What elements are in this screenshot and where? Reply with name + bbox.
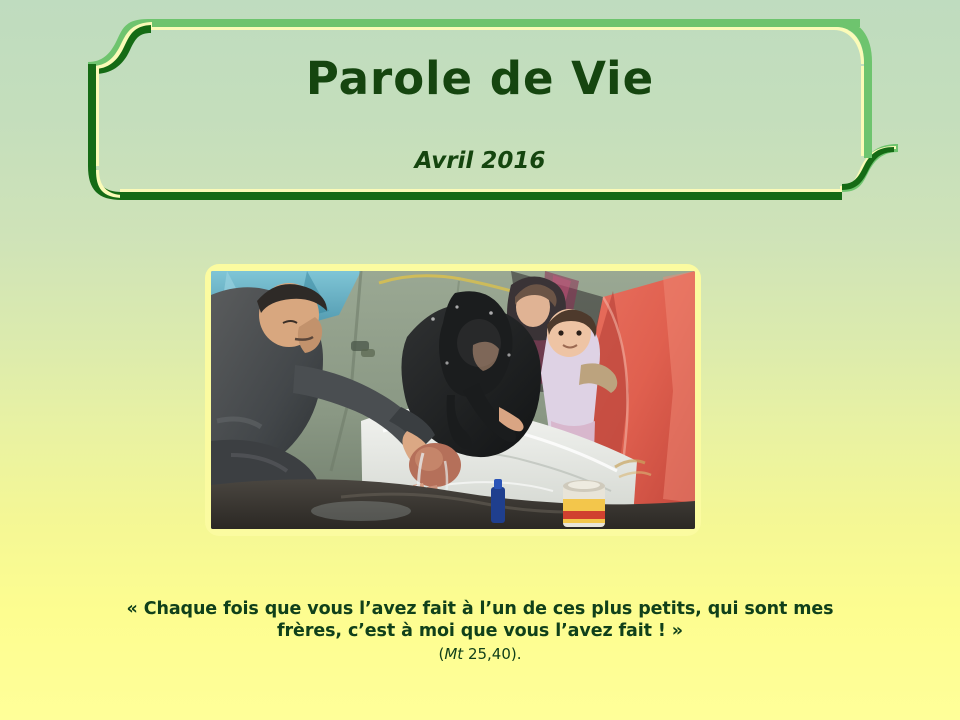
slide-canvas: Parole de Vie Avril 2016 (0, 0, 960, 720)
photo-frame (205, 264, 701, 536)
reference-book: Mt (444, 645, 463, 663)
caption-line-1: « Chaque fois que vous l’avez fait à l’u… (110, 598, 850, 620)
caption-line-2: frères, c’est à moi que vous l’avez fait… (110, 620, 850, 642)
scripture-reference: (Mt 25,40). (110, 645, 850, 663)
reference-verse: 25,40). (463, 645, 521, 663)
refugee-camp-photo-illustration (211, 271, 695, 529)
caption-block: « Chaque fois que vous l’avez fait à l’u… (110, 598, 850, 663)
page-subtitle: Avril 2016 (52, 150, 908, 173)
title-frame: Parole de Vie Avril 2016 (52, 16, 908, 210)
title-frame-border (52, 16, 908, 210)
page-title: Parole de Vie (52, 56, 908, 101)
photo-image (211, 271, 695, 529)
